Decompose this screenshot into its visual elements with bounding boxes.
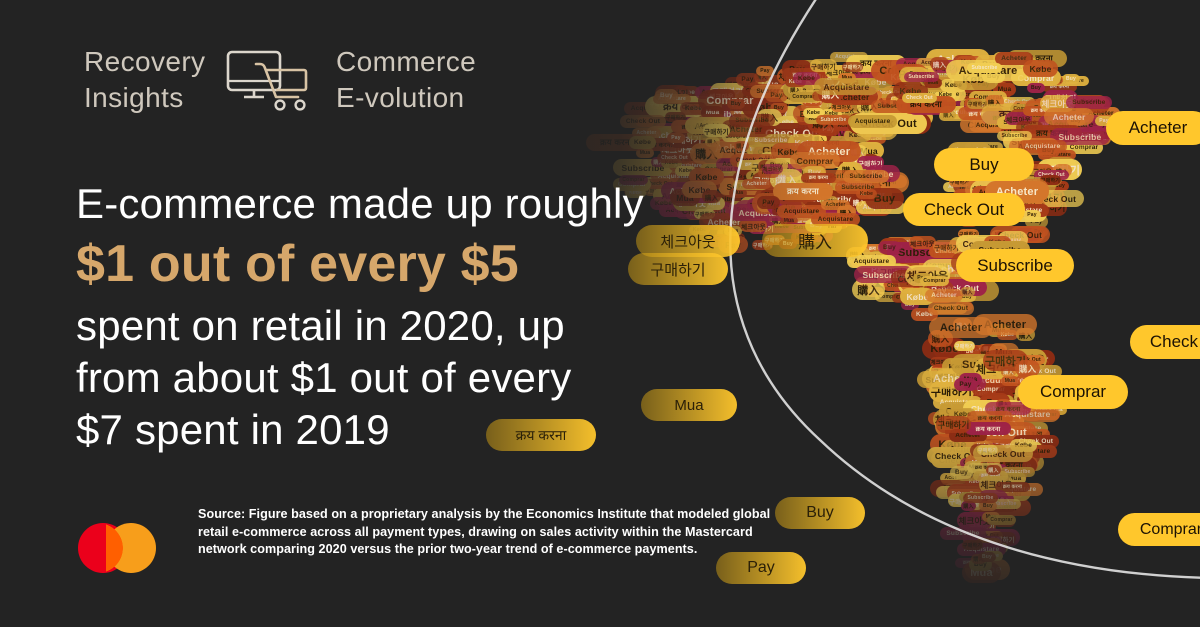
headline-line-3: from about $1 out of every bbox=[76, 354, 571, 401]
map-word-pill: 구매하기 bbox=[842, 62, 863, 72]
map-word-pill: Buy bbox=[950, 466, 973, 479]
map-word-pill: 구매하기 bbox=[954, 341, 975, 351]
map-word-pill: Acquistare bbox=[848, 115, 897, 128]
callout-label: Subscribe bbox=[977, 256, 1053, 276]
map-word-pill: Buy bbox=[1062, 74, 1080, 84]
callout-label: क्रय करना bbox=[516, 426, 567, 445]
map-word-pill: Købe bbox=[856, 189, 877, 199]
map-word-pill: Comprar bbox=[920, 276, 949, 286]
callout-pill-2[interactable]: Buy bbox=[934, 148, 1034, 181]
map-word-pill: Pay bbox=[667, 133, 685, 143]
map-word-pill: Pay bbox=[954, 378, 977, 391]
map-word-pill: Pay bbox=[1023, 210, 1041, 220]
brand-left-line2: Insights bbox=[84, 80, 214, 116]
map-word-pill: Buy bbox=[727, 99, 745, 109]
map-word-pill: Subscribe bbox=[816, 115, 851, 125]
map-word-pill: Subscribe bbox=[843, 170, 889, 183]
callout-pill-12[interactable]: Buy bbox=[775, 497, 865, 529]
brand-left-line1: Recovery bbox=[84, 46, 205, 77]
map-word-pill: Buy bbox=[878, 241, 901, 254]
map-word-pill: Acheter bbox=[929, 317, 993, 338]
map-word-pill: Subscribe bbox=[729, 114, 775, 127]
map-word-pill: Købe bbox=[1023, 60, 1058, 77]
callout-pill-1[interactable]: Acheter bbox=[1106, 111, 1200, 145]
callout-pill-10[interactable]: Mua bbox=[641, 389, 737, 421]
callout-label: Comprar bbox=[1040, 382, 1106, 402]
map-word-pill: Buy bbox=[1027, 83, 1045, 93]
callout-label: Comprar bbox=[1140, 521, 1200, 539]
callout-pill-3[interactable]: Check Out bbox=[903, 193, 1025, 226]
callout-label: Mua bbox=[674, 397, 703, 414]
map-word-pill: Pay bbox=[756, 66, 774, 76]
callout-pill-14[interactable]: Comprar bbox=[1118, 513, 1200, 546]
map-word-pill: Acquistare bbox=[814, 78, 879, 95]
map-word-pill: 구매하기 bbox=[936, 416, 971, 433]
map-word-pill: Check Out bbox=[902, 93, 937, 103]
map-word-pill: 체크아웃 bbox=[762, 164, 783, 174]
callout-label: Buy bbox=[969, 155, 998, 175]
map-word-pill: Check Out bbox=[657, 153, 692, 163]
monitor-shopping-cart-icon bbox=[222, 47, 314, 113]
brand-right-line2: E-volution bbox=[336, 80, 476, 116]
map-word-pill: Acheter bbox=[821, 200, 850, 210]
headline-line-4: $7 spent in 2019 bbox=[76, 406, 390, 453]
callout-label: 체크아웃 bbox=[660, 231, 715, 252]
callout-label: Check Out bbox=[924, 200, 1004, 220]
map-word-pill: 購入 bbox=[734, 141, 749, 151]
map-word-pill: Acheter bbox=[1044, 108, 1094, 125]
map-word-pill: Buy bbox=[655, 89, 678, 102]
callout-pill-4[interactable]: 購入 bbox=[762, 224, 868, 257]
brand-left-text: Recovery Insights bbox=[84, 44, 214, 116]
map-word-pill: Subscribe bbox=[963, 493, 998, 503]
callout-pill-7[interactable]: 구매하기 bbox=[628, 253, 728, 285]
map-word-pill: 구매하기 bbox=[962, 540, 983, 550]
map-word-pill: 購入 bbox=[986, 465, 1001, 475]
map-word-pill: क्रय करना bbox=[965, 422, 1011, 435]
callout-label: 구매하기 bbox=[650, 259, 705, 280]
map-word-pill: Check Out bbox=[928, 302, 974, 315]
map-word-pill: Subscribe bbox=[967, 63, 1002, 73]
callout-label: Check Out bbox=[1150, 332, 1200, 352]
headline-accent-stat: $1 out of every $5 bbox=[76, 232, 716, 296]
brand-right-line1: Commerce bbox=[336, 46, 476, 77]
mastercard-overlap bbox=[106, 523, 128, 573]
infographic-canvas: MuaSubscribeComprarSubscribeAcquistare구매… bbox=[0, 0, 1200, 627]
map-word-pill: 구매하기 bbox=[703, 124, 730, 137]
callout-pill-13[interactable]: Pay bbox=[716, 552, 806, 584]
map-word-pill: Buy bbox=[978, 552, 996, 562]
brand-right-text: Commerce E-volution bbox=[336, 44, 476, 116]
map-word-pill: क्रय करना bbox=[773, 183, 833, 200]
map-word-pill: Check Out bbox=[620, 115, 666, 128]
map-word-pill: Acheter bbox=[925, 289, 963, 302]
callout-label: Buy bbox=[806, 504, 834, 522]
callout-pill-8[interactable]: Check Out bbox=[1130, 325, 1200, 359]
map-word-pill: Subscribe bbox=[904, 72, 939, 82]
map-word-pill: Købe bbox=[629, 136, 656, 149]
map-word-pill: Pay bbox=[757, 196, 780, 209]
callout-label: Pay bbox=[747, 559, 775, 577]
source-note: Source: Figure based on a proprietary an… bbox=[198, 506, 778, 559]
map-word-pill: Acheter bbox=[742, 179, 771, 189]
mastercard-logo bbox=[76, 514, 172, 582]
callout-pill-5[interactable]: Subscribe bbox=[956, 249, 1074, 282]
callout-pill-9[interactable]: Comprar bbox=[1018, 375, 1128, 409]
brand-lockup: Recovery Insights Commerce E-volution bbox=[84, 44, 476, 116]
headline-line-2: spent on retail in 2020, up bbox=[76, 302, 565, 349]
footer-block: Source: Figure based on a proprietary an… bbox=[76, 506, 778, 582]
headline-line-1: E-commerce made up roughly bbox=[76, 180, 644, 227]
callout-label: 購入 bbox=[798, 228, 832, 253]
headline-block: E-commerce made up roughly $1 out of eve… bbox=[76, 178, 716, 456]
map-word-pill: 구매하기 bbox=[977, 445, 998, 455]
map-word-pill: 구매하기 bbox=[810, 59, 837, 72]
map-word-pill: Mua bbox=[1001, 376, 1019, 386]
map-word-pill: Comprar bbox=[987, 515, 1016, 525]
callout-pill-11[interactable]: क्रय करना bbox=[486, 419, 596, 451]
callout-label: Acheter bbox=[1129, 118, 1188, 138]
map-word-pill: क्रय करना bbox=[801, 173, 836, 183]
